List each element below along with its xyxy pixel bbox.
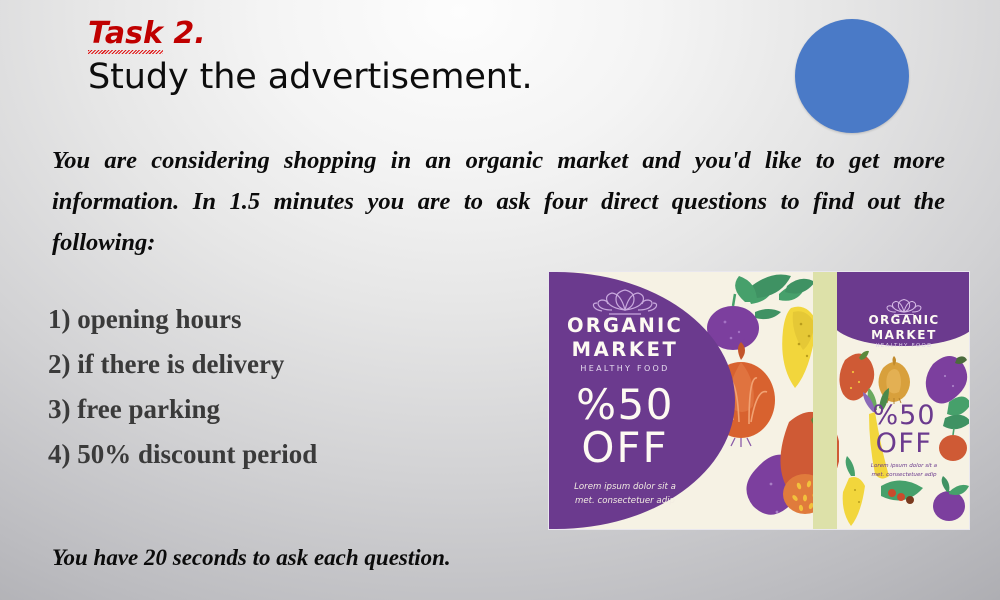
- ad-left-lorem-line2: met. consectetuer adip: [555, 494, 695, 508]
- ad-right-discount-word: OFF: [837, 430, 970, 457]
- list-item: 2) if there is delivery: [48, 342, 518, 387]
- ad-right-discount-value: %50: [837, 402, 970, 429]
- question-list: 1) opening hours 2) if there is delivery…: [48, 297, 518, 477]
- ad-right-brand-market: MARKET: [837, 328, 970, 342]
- ad-right-lorem-text: Lorem ipsum dolor sit a met. consectetue…: [845, 462, 963, 480]
- title-block: Task 2. Study the advertisement.: [88, 18, 728, 97]
- ad-right-lorem-line2: met. consectetuer adip: [845, 471, 963, 480]
- ad-left-text-column: ORGANIC MARKET HEALTHY FOOD %50 OFF Lore…: [549, 272, 701, 529]
- ad-right-brand-organic: ORGANIC: [837, 313, 970, 327]
- task-label-text: Task: [88, 16, 163, 51]
- list-item: 3) free parking: [48, 387, 518, 432]
- ad-left-brand-market: MARKET: [549, 340, 701, 360]
- lotus-ornament-icon: [582, 288, 668, 316]
- ad-right-tagline: HEALTHY FOOD: [837, 343, 970, 349]
- task-label: Task: [88, 18, 163, 51]
- task-line: Task 2.: [88, 18, 728, 51]
- ad-left-tagline: HEALTHY FOOD: [549, 364, 701, 373]
- slide-canvas: Task 2. Study the advertisement. You are…: [0, 0, 1000, 600]
- ad-left-brand-organic: ORGANIC: [549, 316, 701, 336]
- list-item: 1) opening hours: [48, 297, 518, 342]
- blue-circle-decoration: [795, 19, 909, 133]
- task-number: 2.: [173, 16, 205, 51]
- ad-left-discount-word: OFF: [549, 427, 701, 469]
- footer-note: You have 20 seconds to ask each question…: [52, 545, 451, 571]
- ad-left-discount-value: %50: [549, 384, 701, 426]
- ad-right-lorem-line1: Lorem ipsum dolor sit a: [845, 462, 963, 471]
- ad-left-lorem-line1: Lorem ipsum dolor sit a: [555, 480, 695, 494]
- list-item: 4) 50% discount period: [48, 432, 518, 477]
- advertisement-image: ORGANIC MARKET HEALTHY FOOD %50 OFF Lore…: [548, 271, 970, 530]
- ad-right-poster: ORGANIC MARKET HEALTHY FOOD %50 OFF Lore…: [837, 272, 970, 529]
- spellcheck-squiggle-underline: [88, 50, 163, 54]
- ad-divider-strip: [813, 272, 837, 529]
- ad-left-lorem-text: Lorem ipsum dolor sit a met. consectetue…: [555, 480, 695, 508]
- page-title: Study the advertisement.: [88, 57, 728, 97]
